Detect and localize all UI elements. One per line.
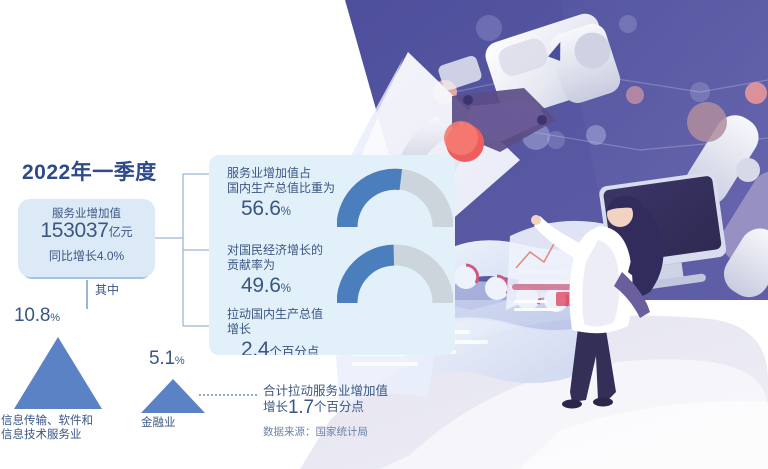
stat-share-suffix: %: [281, 206, 291, 218]
page-title: 2022年一季度: [22, 156, 157, 186]
sector-finance-triangle: [141, 379, 205, 413]
sector-chart-finance: 5.1%: [135, 348, 245, 418]
sector-finance-percent: 5.1: [149, 348, 175, 369]
stat-share-desc-1: 服务业增加值占: [227, 166, 335, 181]
stat-share-value-row: 56.6%: [241, 197, 335, 221]
stat-share-desc-2: 国内生产总值比重为: [227, 181, 335, 196]
infographic-canvas: 2022年一季度 服务业增加值 153037亿元 同比增长4.0% 其中: [0, 0, 768, 469]
stat-contribution-suffix: %: [281, 283, 291, 295]
sector-it-percent-suffix: %: [50, 312, 60, 324]
stat-block-contribution: 对国民经济增长的 贡献率为 49.6%: [227, 243, 323, 298]
summary-prefix: 增长: [263, 400, 288, 414]
main-card-unit: 亿元: [109, 225, 133, 239]
data-source-note: 数据来源：国家统计局: [263, 424, 368, 439]
sector-it-label: 信息传输、软件和 信息技术服务业: [1, 414, 93, 442]
stat-pull-desc-1: 拉动国内生产总值: [227, 307, 323, 322]
gauge-chart-share: [337, 157, 453, 233]
sector-finance-percent-suffix: %: [175, 355, 185, 367]
stat-contribution-desc-2: 贡献率为: [227, 258, 323, 273]
stat-pull-value: 2.4: [241, 338, 269, 355]
stat-pull-desc-2: 增长: [227, 322, 323, 337]
main-stat-card: 服务业增加值 153037亿元 同比增长4.0%: [18, 199, 155, 277]
sector-it-percent-row: 10.8%: [14, 305, 60, 327]
main-card-value: 153037: [40, 219, 108, 242]
stat-contribution-value: 49.6: [241, 274, 281, 297]
sector-it-label-line1: 信息传输、软件和: [1, 415, 93, 427]
summary-suffix: 个百分点: [314, 400, 364, 414]
sector-it-triangle: [14, 337, 102, 409]
stat-pull-suffix: 个百分点: [269, 345, 319, 355]
gauge-chart-contribution: [337, 233, 453, 309]
qizhong-label: 其中: [95, 281, 119, 298]
stat-pull-value-row: 2.4个百分点: [241, 338, 323, 355]
summary-value: 1.7: [288, 397, 314, 418]
stat-share-value: 56.6: [241, 197, 281, 220]
summary-line-2: 增长1.7个百分点: [263, 396, 364, 419]
sector-it-label-line2: 信息技术服务业: [1, 429, 82, 441]
statistics-panel: 服务业增加值占 国内生产总值比重为 56.6% 对国民经济增长的 贡献率为 49…: [209, 155, 455, 355]
stat-block-share: 服务业增加值占 国内生产总值比重为 56.6%: [227, 166, 335, 221]
sector-it-percent: 10.8: [14, 305, 50, 326]
bracket-connector: [155, 168, 215, 348]
sector-finance-percent-row: 5.1%: [149, 348, 184, 370]
stat-contribution-value-row: 49.6%: [241, 274, 323, 298]
stat-contribution-desc-1: 对国民经济增长的: [227, 243, 323, 258]
sector-chart-it: 10.8%: [0, 305, 130, 415]
main-card-value-row: 153037亿元: [18, 219, 155, 243]
sector-finance-label: 金融业: [141, 416, 176, 430]
main-card-growth: 同比增长4.0%: [18, 247, 155, 264]
dotted-connector: [199, 394, 257, 398]
sector-finance-label-line1: 金融业: [141, 417, 176, 429]
